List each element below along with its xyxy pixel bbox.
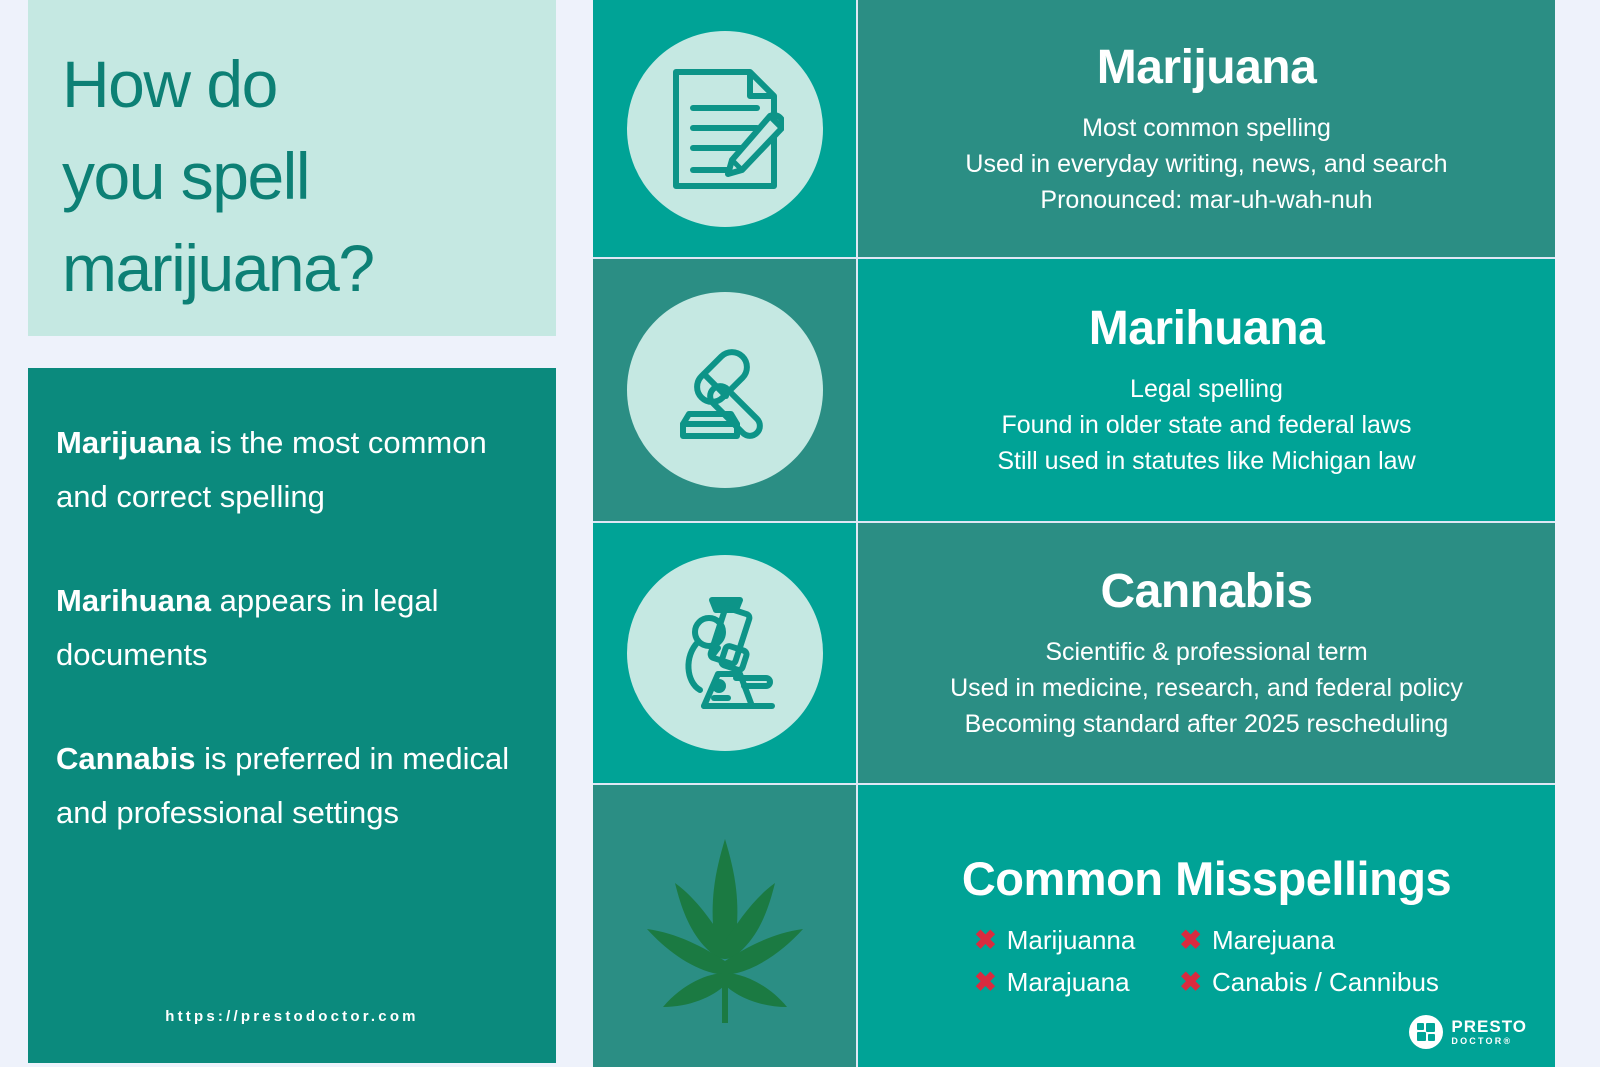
card-line-1: Scientific & professional term bbox=[1045, 634, 1367, 670]
card-marijuana-icon-cell bbox=[593, 0, 858, 257]
misspelling-item: ✖Marajuana bbox=[974, 963, 1135, 1001]
card-line-1: Most common spelling bbox=[1082, 110, 1331, 146]
microscope-icon bbox=[662, 590, 788, 716]
misspelling-item: ✖Marijuanna bbox=[974, 921, 1135, 959]
x-icon: ✖ bbox=[974, 969, 997, 996]
x-icon: ✖ bbox=[1179, 969, 1202, 996]
card-title: Cannabis bbox=[1100, 564, 1312, 620]
summary-bullet-2: Marihuana appears in legal documents bbox=[56, 574, 516, 682]
website-url[interactable]: https://prestodoctor.com bbox=[28, 1008, 556, 1025]
card-cannabis-text-cell: Cannabis Scientific & professional term … bbox=[858, 523, 1555, 783]
misspelling-label: Marajuana bbox=[1007, 963, 1130, 1001]
title-card: How do you spell marijuana? bbox=[28, 0, 556, 336]
misspelling-item: ✖Marejuana bbox=[1179, 921, 1439, 959]
title-line-3: marijuana? bbox=[62, 222, 526, 314]
gavel-icon bbox=[663, 328, 787, 452]
summary-panel: Marijuana is the most common and correct… bbox=[28, 368, 556, 1063]
card-marihuana-text-cell: Marihuana Legal spelling Found in older … bbox=[858, 259, 1555, 521]
brand-name-bottom: DOCTOR® bbox=[1451, 1037, 1527, 1046]
summary-bullet-3: Cannabis is preferred in medical and pro… bbox=[56, 732, 516, 840]
card-title: Marijuana bbox=[1097, 40, 1317, 96]
brand-logo: PRESTO DOCTOR® bbox=[1409, 1015, 1527, 1049]
card-marihuana-icon-cell bbox=[593, 259, 858, 521]
icon-circle bbox=[627, 31, 823, 227]
card-cannabis-icon-cell bbox=[593, 523, 858, 783]
card-cannabis: Cannabis Scientific & professional term … bbox=[593, 523, 1555, 785]
cards-grid: Marijuana Most common spelling Used in e… bbox=[593, 0, 1555, 1067]
pd-monogram-icon bbox=[1414, 1020, 1438, 1044]
card-marihuana: Marihuana Legal spelling Found in older … bbox=[593, 259, 1555, 523]
icon-circle bbox=[627, 555, 823, 751]
card-line-2: Used in everyday writing, news, and sear… bbox=[965, 146, 1447, 182]
card-line-3: Pronounced: mar-uh-wah-nuh bbox=[1040, 182, 1372, 218]
title-line-2: you spell bbox=[62, 130, 526, 222]
misspelling-item: ✖Canabis / Cannibus bbox=[1179, 963, 1439, 1001]
card-marijuana: Marijuana Most common spelling Used in e… bbox=[593, 0, 1555, 259]
infographic-page: How do you spell marijuana? Marijuana is… bbox=[0, 0, 1600, 1067]
card-misspellings: Common Misspellings ✖Marijuanna ✖Marejua… bbox=[593, 785, 1555, 1067]
x-icon: ✖ bbox=[974, 927, 997, 954]
title-keyword: marijuana bbox=[62, 231, 338, 305]
summary-bullet-1: Marijuana is the most common and correct… bbox=[56, 416, 516, 524]
document-pencil-icon bbox=[666, 66, 784, 192]
card-marijuana-text-cell: Marijuana Most common spelling Used in e… bbox=[858, 0, 1555, 257]
card-title: Marihuana bbox=[1089, 301, 1325, 357]
cannabis-leaf-icon bbox=[625, 821, 825, 1031]
card-line-2: Used in medicine, research, and federal … bbox=[950, 670, 1463, 706]
summary-bullet-3-term: Cannabis bbox=[56, 741, 196, 776]
presto-doctor-mark-icon bbox=[1409, 1015, 1443, 1049]
card-line-2: Found in older state and federal laws bbox=[1002, 407, 1412, 443]
card-line-3: Becoming standard after 2025 reschedulin… bbox=[965, 706, 1449, 742]
card-misspellings-icon-cell bbox=[593, 785, 858, 1067]
misspelling-label: Marejuana bbox=[1212, 921, 1335, 959]
brand-name-top: PRESTO bbox=[1451, 1018, 1527, 1035]
summary-bullet-2-term: Marihuana bbox=[56, 583, 211, 618]
x-icon: ✖ bbox=[1179, 927, 1202, 954]
summary-bullet-1-term: Marijuana bbox=[56, 425, 201, 460]
card-line-3: Still used in statutes like Michigan law bbox=[997, 443, 1415, 479]
misspellings-list: ✖Marijuanna ✖Marejuana ✖Marajuana ✖Canab… bbox=[974, 921, 1439, 1001]
misspelling-label: Marijuanna bbox=[1007, 921, 1136, 959]
brand-logo-text: PRESTO DOCTOR® bbox=[1451, 1018, 1527, 1046]
misspelling-label: Canabis / Cannibus bbox=[1212, 963, 1439, 1001]
title-line-1: How do bbox=[62, 38, 526, 130]
title-question-mark: ? bbox=[338, 231, 373, 305]
icon-circle bbox=[627, 292, 823, 488]
card-line-1: Legal spelling bbox=[1130, 371, 1283, 407]
misspellings-title: Common Misspellings bbox=[962, 851, 1451, 907]
